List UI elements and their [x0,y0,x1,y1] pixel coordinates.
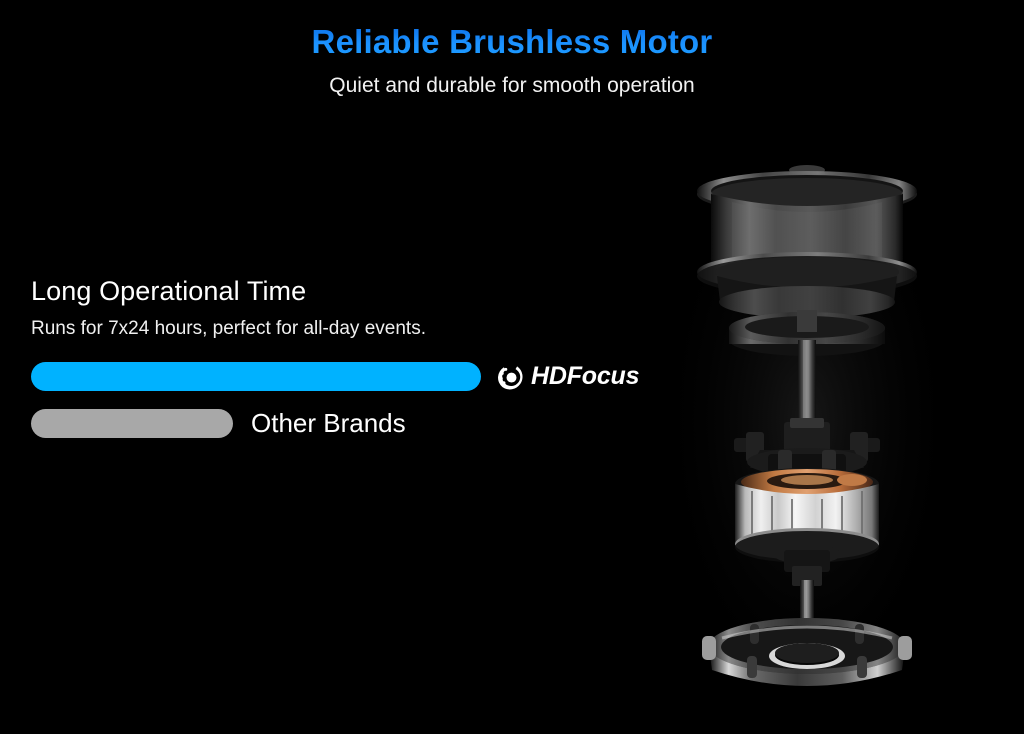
hdfocus-aperture-icon [495,362,525,392]
bar-label-hdfocus: HDFocus [495,362,639,392]
comparison-description: Runs for 7x24 hours, perfect for all-day… [31,318,671,340]
comparison-row-brand: HDFocus [31,362,671,392]
motor-mounting-base [702,618,912,686]
page-title: Reliable Brushless Motor [0,24,1024,60]
comparison-row-other: Other Brands [31,408,671,439]
motor-bell-housing [697,165,917,318]
comparison-section: Long Operational Time Runs for 7x24 hour… [31,276,671,439]
comparison-heading: Long Operational Time [31,276,671,307]
header: Reliable Brushless Motor Quiet and durab… [0,0,1024,97]
bar-hdfocus [31,362,481,391]
promo-banner: Reliable Brushless Motor Quiet and durab… [0,0,1024,734]
brand-name-label: HDFocus [531,362,639,391]
bar-other-brands [31,409,233,438]
page-subtitle: Quiet and durable for smooth operation [0,74,1024,97]
bar-label-other: Other Brands [247,408,406,439]
other-brands-label: Other Brands [251,408,406,439]
exploded-motor-illustration [672,150,942,690]
motor-upper-shaft [797,310,817,426]
